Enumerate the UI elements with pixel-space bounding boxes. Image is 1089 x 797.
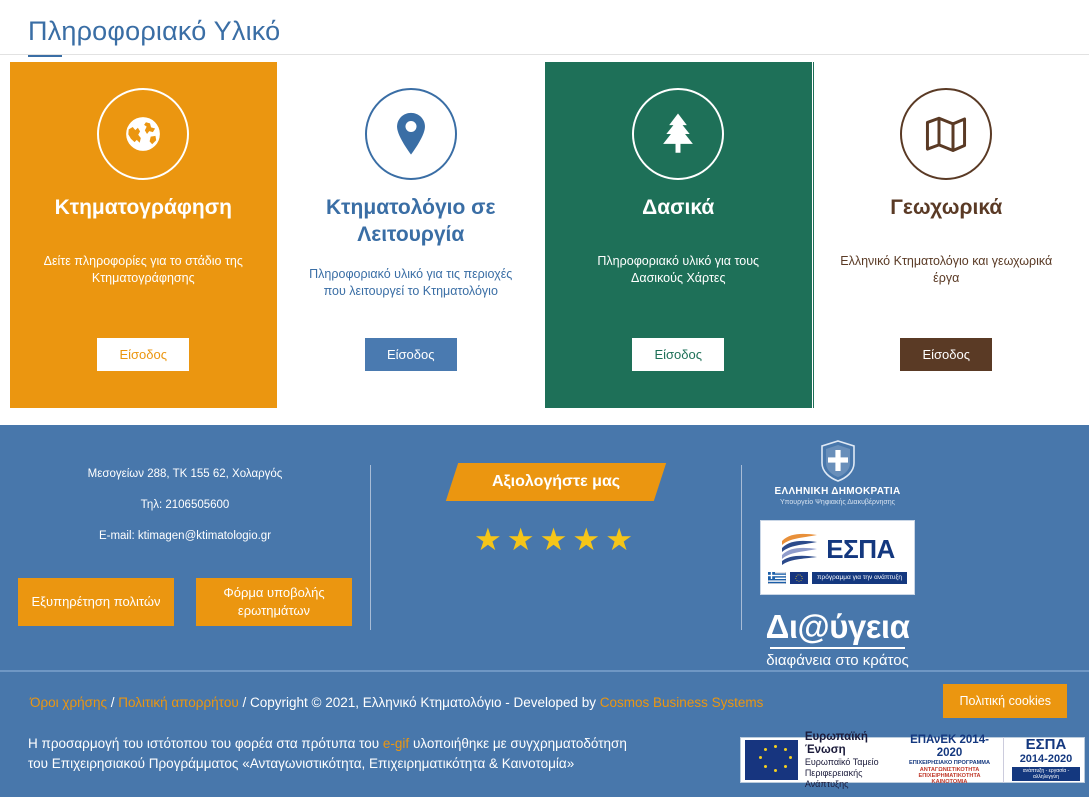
epanek-logo: ΕΠΑνΕΚ 2014-2020 ΕΠΙΧΕΙΡΗΣΙΑΚΟ ΠΡΟΓΡΑΜΜΑ… [905, 734, 994, 786]
citizen-service-button[interactable]: Εξυπηρέτηση πολιτών [18, 578, 174, 626]
info-cards-row: Κτηματογράφηση Δείτε πληροφορίες για το … [10, 62, 1079, 408]
card-description: Πληροφοριακό υλικό για τους Δασικούς Χάρ… [553, 253, 803, 287]
folded-map-icon [900, 88, 992, 180]
footer-logos-column: ΕΛΛΗΝΙΚΗ ΔΗΜΟΚΡΑΤΙΑ Υπουργείο Ψηφιακής Δ… [742, 425, 1089, 670]
map-pin-icon [365, 88, 457, 180]
eu-union-sub2: Περιφερειακής Ανάπτυξης [805, 768, 896, 790]
card-title: Κτηματογράφηση [55, 194, 232, 221]
cofinancing-part1: Η προσαρμογή του ιστότοπου του φορέα στα… [28, 736, 383, 751]
card-title: Κτηματολόγιο σε Λειτουργία [286, 194, 537, 248]
cookie-policy-button[interactable]: Πολιτική cookies [943, 684, 1067, 718]
rate-us-label: Αξιολογήστε μας [492, 472, 620, 492]
epanek-title-line: ΕΠΑνΕΚ 2014-2020 [905, 734, 994, 760]
cofinancing-line2: του Επιχειρησιακού Προγράμματος «Ανταγων… [28, 756, 574, 771]
espa-small-tagline: ανάπτυξη - εργασία - αλληλεγγύη [1012, 767, 1080, 781]
diavgeia-wordmark: Δι@ύγεια [766, 609, 910, 645]
card-enter-button[interactable]: Είσοδος [365, 338, 457, 371]
diavgeia-rule [770, 647, 906, 649]
card-ktimatologio-se-leitourgia[interactable]: Κτηματολόγιο σε Λειτουργία Πληροφοριακό … [278, 62, 545, 408]
card-title: Γεωχωρικά [890, 194, 1002, 221]
eu-union-sub1: Ευρωπαϊκό Ταμείο [805, 757, 896, 768]
star-icon[interactable]: ★ [572, 522, 605, 557]
hellenic-republic-logo[interactable]: ΕΛΛΗΝΙΚΗ ΔΗΜΟΚΡΑΤΙΑ Υπουργείο Ψηφιακής Δ… [750, 439, 925, 595]
header-divider [0, 54, 1089, 55]
page-root: Πληροφοριακό Υλικό Κτηματογράφηση Δείτε … [0, 0, 1089, 797]
card-enter-button[interactable]: Είσοδος [632, 338, 724, 371]
epanek-sub4: ΚΑΙΝΟΤΟΜΙΑ [905, 779, 994, 785]
card-ktimatografisi[interactable]: Κτηματογράφηση Δείτε πληροφορίες για το … [10, 62, 277, 408]
espa-tagline: πρόγραμμα για την ανάπτυξη [812, 572, 907, 584]
eu-union-text: Ευρωπαϊκή Ένωση Ευρωπαϊκό Ταμείο Περιφερ… [805, 731, 896, 790]
globe-icon [97, 88, 189, 180]
pine-tree-icon [632, 88, 724, 180]
footer-contact-column: Μεσογείων 288, ΤΚ 155 62, Χολαργός Τηλ: … [0, 425, 370, 670]
cofinancing-text: Η προσαρμογή του ιστότοπου του φορέα στα… [28, 734, 627, 774]
espa-logo-bottom: πρόγραμμα για την ανάπτυξη [768, 572, 907, 584]
diavgeia-logo[interactable]: Δι@ύγεια διαφάνεια στο κράτος [766, 595, 910, 670]
espa-small-wordmark: ΕΣΠΑ [1012, 737, 1080, 753]
hellenic-republic-emblem-icon [818, 439, 858, 483]
eu-flag-icon [745, 740, 798, 780]
card-description: Πληροφοριακό υλικό για τις περιοχές που … [286, 266, 536, 300]
star-icon[interactable]: ★ [540, 522, 573, 557]
footer-rating-column: Αξιολογήστε μας ★★★★★ [371, 425, 741, 670]
page-title: Πληροφοριακό Υλικό [28, 14, 1089, 48]
star-rating[interactable]: ★★★★★ [474, 523, 638, 557]
copyright-text: / Copyright © 2021, Ελληνικό Κτηματολόγι… [239, 695, 600, 710]
epanek-sub1: ΕΠΙΧΕΙΡΗΣΙΑΚΟ ΠΡΟΓΡΑΜΜΑ [905, 760, 994, 766]
card-description: Ελληνικό Κτηματολόγιο και γεωχωρικά έργα [821, 253, 1071, 287]
espa-logo-top: ΕΣΠΑ [780, 532, 895, 566]
espa-logo[interactable]: ΕΣΠΑ [760, 520, 915, 595]
card-enter-button[interactable]: Είσοδος [97, 338, 189, 371]
footer-address: Μεσογείων 288, ΤΚ 155 62, Χολαργός [88, 467, 283, 481]
espa-small-logo: ΕΣΠΑ 2014-2020 ανάπτυξη - εργασία - αλλη… [1003, 737, 1080, 783]
eu-cofinancing-banner[interactable]: Ευρωπαϊκή Ένωση Ευρωπαϊκό Ταμείο Περιφερ… [740, 737, 1085, 783]
diavgeia-tagline: διαφάνεια στο κράτος [766, 652, 910, 670]
footer-action-buttons: Εξυπηρέτηση πολιτών Φόρμα υποβολής ερωτη… [18, 578, 352, 626]
espa-wordmark: ΕΣΠΑ [826, 535, 895, 563]
espa-waves-icon [780, 532, 820, 566]
epanek-title: ΕΠΑνΕΚ [910, 734, 956, 746]
hellenic-republic-title: ΕΛΛΗΝΙΚΗ ΔΗΜΟΚΡΑΤΙΑ [775, 486, 901, 497]
terms-of-use-link[interactable]: Όροι χρήσης [30, 695, 107, 710]
footer-phone: Τηλ: 2106505600 [141, 498, 230, 512]
greek-flag-icon [768, 572, 786, 584]
page-header: Πληροφοριακό Υλικό [0, 0, 1089, 57]
egif-link[interactable]: e-gif [383, 736, 409, 751]
hellenic-republic-subtitle: Υπουργείο Ψηφιακής Διακυβέρνησης [780, 499, 895, 506]
card-title: Δασικά [642, 194, 714, 221]
separator-1: / [107, 695, 118, 710]
card-enter-button[interactable]: Είσοδος [900, 338, 992, 371]
eu-flag-icon [790, 572, 808, 584]
card-description: Δείτε πληροφορίες για το στάδιο της Κτημ… [18, 253, 268, 287]
cofinancing-part2: υλοποιήθηκε με συγχρηματοδότηση [409, 736, 627, 751]
question-form-button[interactable]: Φόρμα υποβολής ερωτημάτων [196, 578, 352, 626]
footer-email: E-mail: ktimagen@ktimatologio.gr [99, 529, 271, 543]
star-icon[interactable]: ★ [474, 522, 507, 557]
star-icon[interactable]: ★ [507, 522, 540, 557]
privacy-policy-link[interactable]: Πολιτική απορρήτου [118, 695, 238, 710]
card-dasika[interactable]: Δασικά Πληροφοριακό υλικό για τους Δασικ… [545, 62, 812, 408]
card-geochorika[interactable]: Γεωχωρικά Ελληνικό Κτηματολόγιο και γεωχ… [813, 62, 1080, 408]
rate-us-banner[interactable]: Αξιολογήστε μας [446, 463, 666, 501]
eu-union-title: Ευρωπαϊκή Ένωση [805, 731, 896, 757]
footer-panel: Μεσογείων 288, ΤΚ 155 62, Χολαργός Τηλ: … [0, 425, 1089, 670]
star-icon[interactable]: ★ [605, 522, 638, 557]
copyright-line: Όροι χρήσης / Πολιτική απορρήτου / Copyr… [30, 694, 763, 712]
developer-link[interactable]: Cosmos Business Systems [600, 695, 764, 710]
espa-small-years: 2014-2020 [1012, 753, 1080, 765]
